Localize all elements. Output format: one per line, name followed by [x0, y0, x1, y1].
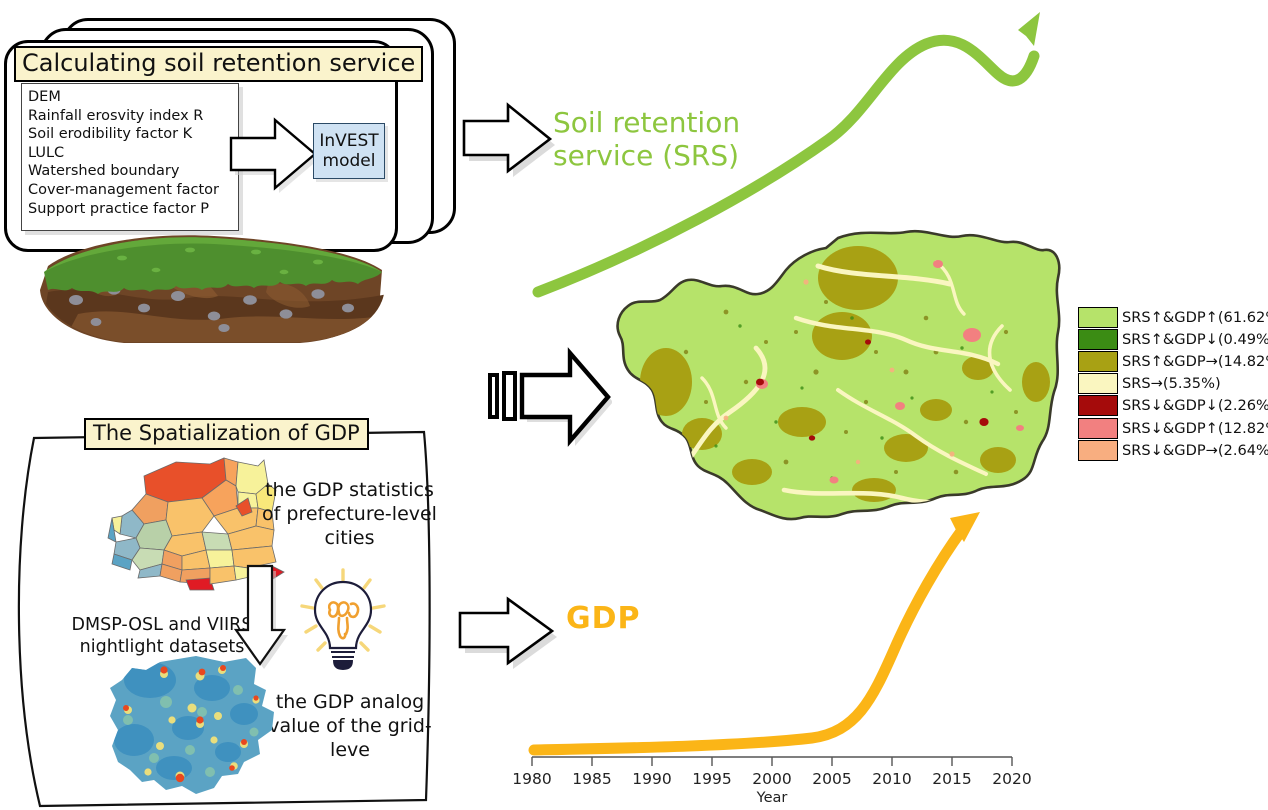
list-item: Cover-management factor — [28, 181, 232, 200]
legend-swatch — [1078, 440, 1118, 461]
srs-panel-title: Calculating soil retention service — [14, 46, 423, 82]
axis-title: Year — [757, 790, 788, 806]
arrow-model-to-srs-icon — [462, 100, 558, 184]
legend-item: SRS↑&GDP→(14.82%) — [1078, 350, 1268, 372]
legend-label: SRS↓&GDP↑(12.82%) — [1122, 420, 1268, 437]
srs-output-label: Soil retention service (SRS) — [553, 106, 783, 172]
list-item: Rainfall erosvity index R — [28, 107, 232, 126]
legend-item: SRS↓&GDP↑(12.82%) — [1078, 417, 1268, 439]
legend-item: SRS→(5.35%) — [1078, 373, 1268, 395]
axis-tick-label: 2005 — [812, 770, 851, 788]
list-item: LULC — [28, 144, 232, 163]
axis-ticks — [500, 756, 1045, 770]
legend-swatch — [1078, 329, 1118, 350]
map-legend: SRS↑&GDP↑(61.62%) SRS↑&GDP↓(0.49%) SRS↑&… — [1078, 306, 1268, 461]
arrow-to-map-icon — [488, 342, 612, 448]
legend-swatch — [1078, 307, 1118, 328]
legend-swatch — [1078, 418, 1118, 439]
axis-tick-label: 1995 — [692, 770, 731, 788]
gdp-panel-title: The Spatialization of GDP — [84, 418, 369, 450]
legend-label: SRS↑&GDP→(14.82%) — [1122, 353, 1268, 370]
legend-item: SRS↓&GDP↓(2.26%) — [1078, 395, 1268, 417]
gdp-trend-curve — [512, 500, 1052, 770]
axis-tick-label: 1990 — [632, 770, 671, 788]
axis-tick-label: 1980 — [512, 770, 551, 788]
axis-tick-label: 2010 — [872, 770, 911, 788]
srs-output-label-line2: service (SRS) — [553, 139, 783, 172]
list-item: DEM — [28, 88, 232, 107]
legend-label: SRS↑&GDP↑(61.62%) — [1122, 309, 1268, 326]
axis-tick-label: 2020 — [992, 770, 1031, 788]
srs-calculation-panel: Calculating soil retention service DEM R… — [0, 18, 452, 250]
list-item: Support practice factor P — [28, 200, 232, 219]
legend-item: SRS↓&GDP→(2.64%) — [1078, 439, 1268, 461]
invest-model-line1: InVEST — [319, 131, 378, 151]
axis-tick-label: 2015 — [932, 770, 971, 788]
axis-tick-label: 1985 — [572, 770, 611, 788]
srs-gdp-bivariate-map — [606, 222, 1076, 532]
legend-item: SRS↑&GDP↑(61.62%) — [1078, 306, 1268, 328]
legend-swatch — [1078, 373, 1118, 394]
legend-swatch — [1078, 351, 1118, 372]
legend-label: SRS→(5.35%) — [1122, 375, 1221, 392]
legend-label: SRS↓&GDP→(2.64%) — [1122, 442, 1268, 459]
gdp-spatialization-panel: The Spatialization of GDP — [6, 418, 436, 808]
gdp-stats-text: the GDP statistics of prefecture-level c… — [262, 478, 437, 550]
list-item: Watershed boundary — [28, 162, 232, 181]
nightlight-grid-map — [104, 654, 300, 804]
legend-item: SRS↑&GDP↓(0.49%) — [1078, 328, 1268, 350]
legend-label: SRS↓&GDP↓(2.26%) — [1122, 397, 1268, 414]
axis-tick-label: 2000 — [752, 770, 791, 788]
list-item: Soil erodibility factor K — [28, 125, 232, 144]
legend-swatch — [1078, 395, 1118, 416]
arrow-inputs-to-model-icon — [228, 114, 320, 200]
soil-block-illustration — [18, 222, 396, 344]
legend-label: SRS↑&GDP↓(0.49%) — [1122, 331, 1268, 348]
invest-model-box: InVEST model — [313, 123, 385, 179]
srs-input-list: DEM Rainfall erosvity index R Soil erodi… — [21, 83, 239, 231]
lightbulb-gdp-icon — [294, 566, 392, 672]
gdp-year-axis: 1980 1985 1990 1995 2000 2005 2010 2015 … — [500, 756, 1045, 808]
invest-model-line2: model — [323, 151, 376, 171]
srs-output-label-line1: Soil retention — [553, 106, 783, 139]
